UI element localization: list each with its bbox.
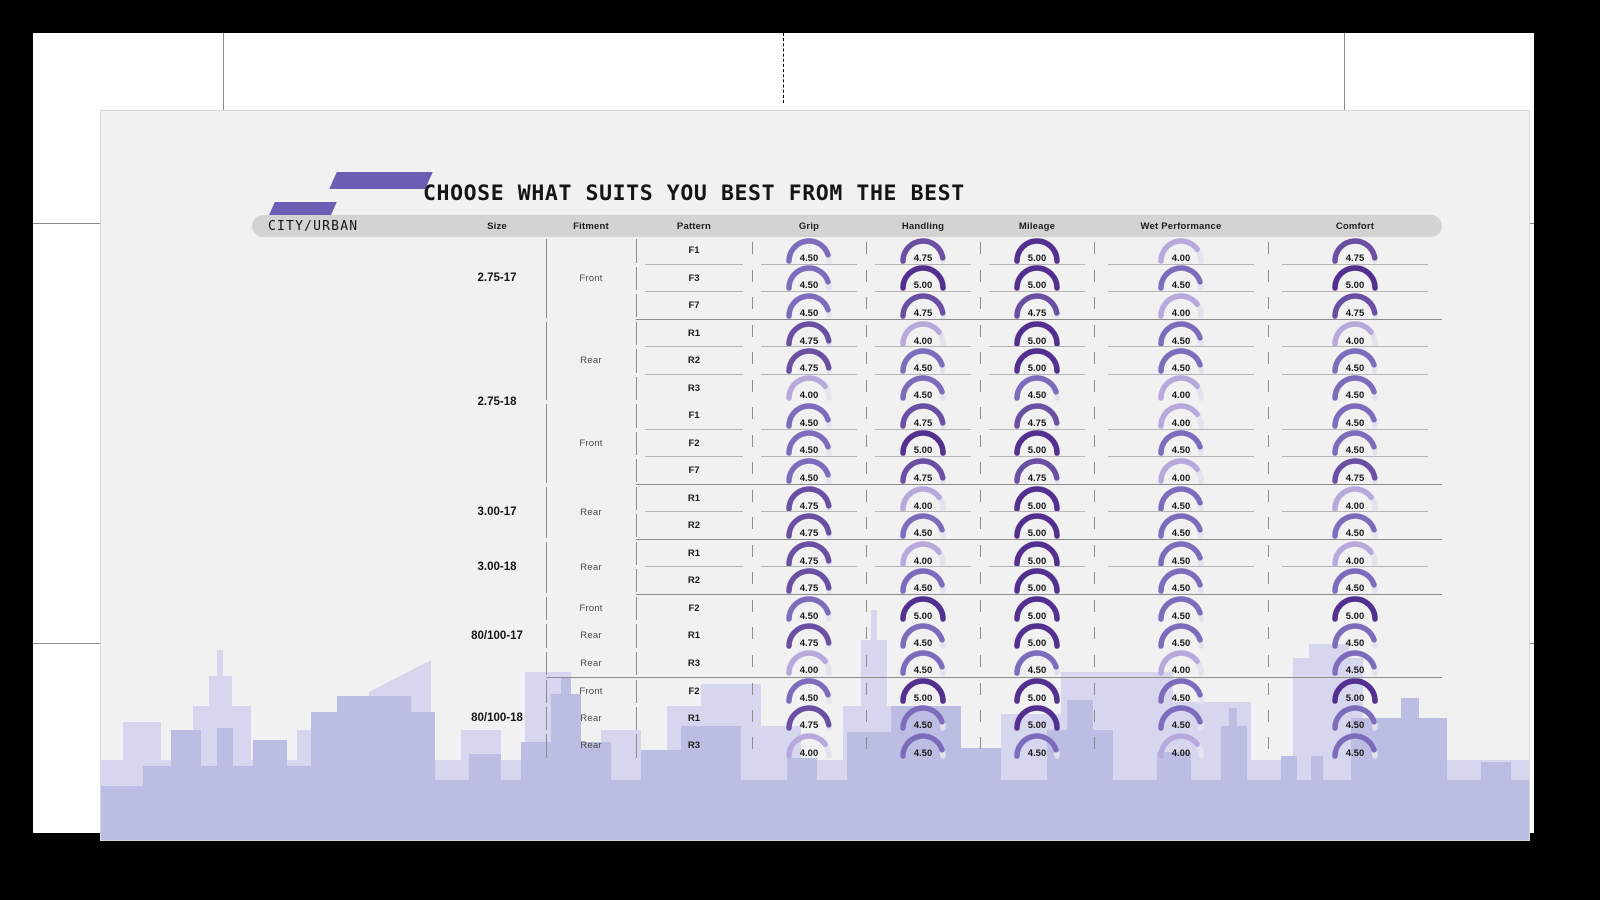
cell-comfort: 4.50: [1268, 347, 1442, 375]
cell-comfort: 4.50: [1268, 650, 1442, 678]
cell-mileage: 5.00: [980, 540, 1094, 568]
gauge-value: 5.00: [895, 280, 951, 291]
cell-wet-performance: 4.50: [1094, 347, 1268, 375]
gauge-value: 4.75: [895, 308, 951, 319]
gauge-value: 4.50: [895, 638, 951, 649]
cell-handling: 4.75: [866, 237, 980, 265]
cell-grip: 4.75: [752, 320, 866, 348]
cell-wet-performance: 4.00: [1094, 237, 1268, 265]
gauge-comfort: 4.50: [1327, 623, 1383, 649]
gauge-value: 5.00: [895, 693, 951, 704]
gauge-mileage: 5.00: [1009, 596, 1065, 622]
gauge-value: 4.50: [895, 720, 951, 731]
gauge-mileage: 5.00: [1009, 541, 1065, 567]
cell-wet-performance: 4.00: [1094, 292, 1268, 320]
cell-grip: 4.00: [752, 732, 866, 760]
gauge-value: 4.50: [1327, 638, 1383, 649]
gauge-value: 4.50: [1153, 445, 1209, 456]
gauge-value: 4.50: [1153, 528, 1209, 539]
gauge-comfort: 4.50: [1327, 705, 1383, 731]
cell-size: 80/100-18: [448, 677, 546, 760]
gauge-value: 4.50: [895, 528, 951, 539]
gauge-value: 4.50: [895, 748, 951, 759]
gauge-value: 4.75: [781, 528, 837, 539]
gauge-value: 4.75: [1327, 308, 1383, 319]
cell-pattern: R2: [636, 347, 752, 375]
gauge-mileage: 5.00: [1009, 705, 1065, 731]
gauge-value: 4.50: [1153, 336, 1209, 347]
cell-mileage: 5.00: [980, 265, 1094, 293]
cell-mileage: 4.75: [980, 457, 1094, 485]
cell-pattern: F3: [636, 265, 752, 293]
gauge-mileage: 5.00: [1009, 265, 1065, 291]
cell-wet-performance: 4.50: [1094, 485, 1268, 513]
cell-grip: 4.75: [752, 622, 866, 650]
gauge-value: 5.00: [1009, 720, 1065, 731]
gauge-value: 4.75: [781, 336, 837, 347]
gauge-mileage: 5.00: [1009, 430, 1065, 456]
row-spacer: [252, 237, 448, 320]
fold-line-top: [783, 33, 784, 103]
tyre-comparison-table: CITY/URBAN Size Fitment Pattern Grip Han…: [252, 215, 1442, 760]
gauge-wet-performance: 4.00: [1153, 238, 1209, 264]
table-row: 3.00-18RearR1 4.75 4.00 5.00 4.50 4.00: [252, 540, 1442, 568]
gauge-comfort: 4.50: [1327, 375, 1383, 401]
gauge-value: 4.00: [1327, 336, 1383, 347]
cell-fitment: Front: [546, 677, 636, 705]
cell-comfort: 5.00: [1268, 677, 1442, 705]
gauge-grip: 4.75: [781, 486, 837, 512]
cell-handling: 4.00: [866, 540, 980, 568]
gauge-grip: 4.50: [781, 678, 837, 704]
brand-badge: CITY/URBAN: [252, 215, 448, 237]
cell-handling: 4.50: [866, 705, 980, 733]
gauge-handling: 4.50: [895, 650, 951, 676]
gauge-grip: 4.50: [781, 265, 837, 291]
cell-fitment: Rear: [546, 622, 636, 650]
gauge-value: 4.50: [781, 693, 837, 704]
cell-mileage: 5.00: [980, 595, 1094, 623]
cell-comfort: 4.00: [1268, 320, 1442, 348]
col-header-size: Size: [448, 215, 546, 237]
gauge-value: 4.75: [895, 253, 951, 264]
cell-comfort: 4.50: [1268, 705, 1442, 733]
gauge-grip: 4.00: [781, 650, 837, 676]
gauge-comfort: 4.00: [1327, 321, 1383, 347]
gauge-value: 4.00: [1327, 501, 1383, 512]
cell-grip: 4.50: [752, 292, 866, 320]
cell-pattern: F2: [636, 430, 752, 458]
row-spacer: [252, 595, 448, 678]
row-spacer: [252, 540, 448, 595]
gauge-mileage: 5.00: [1009, 678, 1065, 704]
cell-grip: 4.50: [752, 430, 866, 458]
gauge-value: 4.00: [1153, 748, 1209, 759]
gauge-mileage: 4.75: [1009, 293, 1065, 319]
gauge-wet-performance: 4.50: [1153, 596, 1209, 622]
gauge-grip: 4.75: [781, 568, 837, 594]
cell-pattern: R1: [636, 485, 752, 513]
cell-pattern: R1: [636, 622, 752, 650]
gauge-handling: 4.50: [895, 375, 951, 401]
gauge-mileage: 5.00: [1009, 348, 1065, 374]
cell-wet-performance: 4.00: [1094, 457, 1268, 485]
page-title-block: CHOOSE WHAT SUITS YOU BEST FROM THE BEST: [271, 167, 965, 219]
gauge-value: 4.75: [895, 473, 951, 484]
gauge-comfort: 4.50: [1327, 733, 1383, 759]
cell-pattern: F2: [636, 677, 752, 705]
gauge-value: 4.00: [1153, 390, 1209, 401]
cell-handling: 5.00: [866, 595, 980, 623]
table-row: 80/100-18FrontF2 4.50 5.00 5.00 4.50 5.0…: [252, 677, 1442, 705]
page-title: CHOOSE WHAT SUITS YOU BEST FROM THE BEST: [423, 181, 965, 206]
gauge-handling: 4.00: [895, 321, 951, 347]
cell-grip: 4.75: [752, 347, 866, 375]
gauge-wet-performance: 4.00: [1153, 375, 1209, 401]
gauge-value: 4.75: [1327, 253, 1383, 264]
cell-wet-performance: 4.00: [1094, 375, 1268, 403]
gauge-handling: 4.75: [895, 403, 951, 429]
cell-handling: 4.75: [866, 402, 980, 430]
gauge-grip: 4.00: [781, 375, 837, 401]
cell-comfort: 4.50: [1268, 622, 1442, 650]
table-row: 2.75-17FrontF1 4.50 4.75 5.00 4.00 4.75: [252, 237, 1442, 265]
gauge-comfort: 4.75: [1327, 458, 1383, 484]
cell-handling: 5.00: [866, 430, 980, 458]
gauge-value: 4.50: [781, 611, 837, 622]
cell-mileage: 5.00: [980, 622, 1094, 650]
cell-pattern: F7: [636, 292, 752, 320]
cell-fitment: Rear: [546, 485, 636, 540]
cell-fitment: Rear: [546, 732, 636, 760]
cell-grip: 4.00: [752, 650, 866, 678]
cell-fitment: Front: [546, 595, 636, 623]
gauge-mileage: 4.75: [1009, 403, 1065, 429]
gauge-value: 4.50: [1153, 556, 1209, 567]
gauge-value: 4.00: [1327, 556, 1383, 567]
gauge-value: 4.00: [1153, 253, 1209, 264]
cell-comfort: 5.00: [1268, 595, 1442, 623]
cell-pattern: R1: [636, 540, 752, 568]
cell-pattern: R1: [636, 705, 752, 733]
gauge-value: 4.50: [1327, 748, 1383, 759]
gauge-handling: 5.00: [895, 678, 951, 704]
gauge-mileage: 4.50: [1009, 650, 1065, 676]
cell-mileage: 4.50: [980, 732, 1094, 760]
gauge-handling: 4.50: [895, 568, 951, 594]
gauge-grip: 4.75: [781, 321, 837, 347]
gauge-value: 4.75: [1009, 473, 1065, 484]
cell-handling: 4.75: [866, 457, 980, 485]
gauge-value: 4.50: [1327, 390, 1383, 401]
cell-wet-performance: 4.50: [1094, 265, 1268, 293]
gauge-value: 4.50: [1153, 280, 1209, 291]
gauge-comfort: 4.50: [1327, 403, 1383, 429]
gauge-grip: 4.75: [781, 513, 837, 539]
table-row: 2.75-18RearR1 4.75 4.00 5.00 4.50 4.00: [252, 320, 1442, 348]
gauge-value: 4.75: [781, 363, 837, 374]
gauge-wet-performance: 4.50: [1153, 430, 1209, 456]
cell-wet-performance: 4.50: [1094, 320, 1268, 348]
gauge-comfort: 4.50: [1327, 568, 1383, 594]
gauge-comfort: 4.50: [1327, 650, 1383, 676]
gauge-value: 4.00: [895, 336, 951, 347]
gauge-value: 4.50: [1327, 528, 1383, 539]
gauge-value: 4.00: [1153, 308, 1209, 319]
gauge-wet-performance: 4.00: [1153, 458, 1209, 484]
cell-fitment: Rear: [546, 320, 636, 403]
gauge-mileage: 5.00: [1009, 238, 1065, 264]
cell-handling: 5.00: [866, 677, 980, 705]
gauge-value: 5.00: [1009, 501, 1065, 512]
gauge-value: 5.00: [1009, 363, 1065, 374]
cell-mileage: 5.00: [980, 705, 1094, 733]
gauge-value: 4.50: [1327, 363, 1383, 374]
cell-comfort: 4.50: [1268, 402, 1442, 430]
gauge-value: 4.50: [781, 253, 837, 264]
gauge-comfort: 4.00: [1327, 541, 1383, 567]
gauge-wet-performance: 4.50: [1153, 678, 1209, 704]
cell-mileage: 5.00: [980, 485, 1094, 513]
gauge-value: 5.00: [1009, 556, 1065, 567]
row-spacer: [252, 677, 448, 760]
gauge-value: 4.75: [781, 638, 837, 649]
table-head: CITY/URBAN Size Fitment Pattern Grip Han…: [252, 215, 1442, 237]
cell-comfort: 4.50: [1268, 732, 1442, 760]
gauge-value: 5.00: [1009, 528, 1065, 539]
gauge-wet-performance: 4.00: [1153, 403, 1209, 429]
gauge-value: 5.00: [1009, 336, 1065, 347]
gauge-grip: 4.75: [781, 623, 837, 649]
cell-comfort: 4.00: [1268, 485, 1442, 513]
cell-mileage: 5.00: [980, 347, 1094, 375]
cell-grip: 4.75: [752, 540, 866, 568]
gauge-value: 4.50: [781, 308, 837, 319]
gauge-wet-performance: 4.50: [1153, 321, 1209, 347]
artboard: CHOOSE WHAT SUITS YOU BEST FROM THE BEST…: [100, 110, 1530, 841]
cell-comfort: 4.50: [1268, 512, 1442, 540]
cell-grip: 4.50: [752, 237, 866, 265]
cell-handling: 4.50: [866, 622, 980, 650]
cell-size: 3.00-18: [448, 540, 546, 595]
gauge-wet-performance: 4.50: [1153, 348, 1209, 374]
gauge-handling: 4.00: [895, 486, 951, 512]
gauge-value: 4.50: [895, 583, 951, 594]
gauge-mileage: 4.75: [1009, 458, 1065, 484]
cell-pattern: R2: [636, 512, 752, 540]
gauge-handling: 5.00: [895, 596, 951, 622]
cell-handling: 4.00: [866, 320, 980, 348]
gauge-grip: 4.50: [781, 430, 837, 456]
print-sheet: CHOOSE WHAT SUITS YOU BEST FROM THE BEST…: [33, 33, 1534, 833]
gauge-comfort: 4.75: [1327, 293, 1383, 319]
cell-mileage: 5.00: [980, 567, 1094, 595]
cell-grip: 4.50: [752, 265, 866, 293]
gauge-value: 4.75: [781, 583, 837, 594]
cell-wet-performance: 4.50: [1094, 567, 1268, 595]
gauge-value: 4.50: [895, 390, 951, 401]
col-header-wet-performance: Wet Performance: [1094, 215, 1268, 237]
gauge-comfort: 5.00: [1327, 265, 1383, 291]
cell-handling: 4.75: [866, 292, 980, 320]
cell-wet-performance: 4.50: [1094, 540, 1268, 568]
gauge-grip: 4.75: [781, 348, 837, 374]
cell-mileage: 5.00: [980, 512, 1094, 540]
gauge-mileage: 4.50: [1009, 733, 1065, 759]
gauge-value: 4.50: [895, 665, 951, 676]
gauge-mileage: 4.50: [1009, 375, 1065, 401]
cell-pattern: R1: [636, 320, 752, 348]
cell-grip: 4.00: [752, 375, 866, 403]
gauge-value: 4.50: [1153, 583, 1209, 594]
gauge-value: 5.00: [895, 445, 951, 456]
cell-grip: 4.75: [752, 705, 866, 733]
gauge-wet-performance: 4.50: [1153, 265, 1209, 291]
table-row: 3.00-17RearR1 4.75 4.00 5.00 4.50 4.00: [252, 485, 1442, 513]
gauge-mileage: 5.00: [1009, 568, 1065, 594]
cell-wet-performance: 4.50: [1094, 595, 1268, 623]
gauge-grip: 4.50: [781, 403, 837, 429]
gauge-comfort: 4.50: [1327, 513, 1383, 539]
gauge-value: 4.50: [1153, 501, 1209, 512]
gauge-value: 4.50: [1153, 720, 1209, 731]
cell-fitment: Rear: [546, 650, 636, 678]
gauge-grip: 4.50: [781, 293, 837, 319]
table-header-row: CITY/URBAN Size Fitment Pattern Grip Han…: [252, 215, 1442, 237]
cell-mileage: 5.00: [980, 237, 1094, 265]
gauge-mileage: 5.00: [1009, 623, 1065, 649]
cell-fitment: Rear: [546, 540, 636, 595]
gauge-value: 5.00: [1009, 253, 1065, 264]
gauge-value: 4.50: [781, 473, 837, 484]
gauge-value: 5.00: [1009, 638, 1065, 649]
gauge-wet-performance: 4.00: [1153, 293, 1209, 319]
gauge-value: 4.00: [1153, 665, 1209, 676]
cell-handling: 4.50: [866, 732, 980, 760]
gauge-value: 4.50: [1153, 363, 1209, 374]
cell-pattern: F1: [636, 237, 752, 265]
cell-comfort: 4.50: [1268, 375, 1442, 403]
gauge-wet-performance: 4.50: [1153, 568, 1209, 594]
gauge-mileage: 5.00: [1009, 321, 1065, 347]
gauge-wet-performance: 4.50: [1153, 513, 1209, 539]
gauge-value: 4.50: [1153, 638, 1209, 649]
accent-slashes-icon: [271, 167, 423, 219]
row-spacer: [252, 320, 448, 485]
gauge-wet-performance: 4.00: [1153, 733, 1209, 759]
cell-pattern: R3: [636, 375, 752, 403]
cell-wet-performance: 4.50: [1094, 677, 1268, 705]
cell-handling: 4.50: [866, 650, 980, 678]
gauge-value: 5.00: [1009, 583, 1065, 594]
gauge-handling: 4.75: [895, 238, 951, 264]
cell-comfort: 4.50: [1268, 567, 1442, 595]
gauge-wet-performance: 4.00: [1153, 650, 1209, 676]
gauge-handling: 4.00: [895, 541, 951, 567]
cell-grip: 4.75: [752, 512, 866, 540]
row-spacer: [252, 485, 448, 540]
cell-comfort: 5.00: [1268, 265, 1442, 293]
gauge-value: 4.50: [1153, 693, 1209, 704]
gauge-value: 4.50: [1327, 665, 1383, 676]
gauge-value: 4.75: [1009, 418, 1065, 429]
col-header-pattern: Pattern: [636, 215, 752, 237]
cell-handling: 5.00: [866, 265, 980, 293]
gauge-value: 4.00: [1153, 418, 1209, 429]
cell-size: 2.75-17: [448, 237, 546, 320]
cell-grip: 4.50: [752, 402, 866, 430]
gauge-value: 4.50: [1009, 390, 1065, 401]
cell-grip: 4.50: [752, 457, 866, 485]
cell-fitment: Front: [546, 402, 636, 485]
gauge-comfort: 5.00: [1327, 596, 1383, 622]
gauge-comfort: 5.00: [1327, 678, 1383, 704]
gauge-value: 5.00: [1009, 693, 1065, 704]
cell-size: 2.75-18: [448, 320, 546, 485]
gauge-value: 4.50: [781, 280, 837, 291]
cell-mileage: 4.75: [980, 402, 1094, 430]
table-body: 2.75-17FrontF1 4.50 4.75 5.00 4.00 4.75 …: [252, 237, 1442, 760]
gauge-value: 5.00: [1009, 445, 1065, 456]
gauge-grip: 4.75: [781, 541, 837, 567]
cell-comfort: 4.75: [1268, 457, 1442, 485]
cell-mileage: 5.00: [980, 320, 1094, 348]
col-header-grip: Grip: [752, 215, 866, 237]
cell-grip: 4.75: [752, 567, 866, 595]
accent-slash-top: [329, 172, 433, 189]
gauge-value: 4.50: [1327, 583, 1383, 594]
gauge-value: 5.00: [1009, 280, 1065, 291]
gauge-value: 4.75: [781, 720, 837, 731]
gauge-handling: 5.00: [895, 265, 951, 291]
cell-grip: 4.50: [752, 595, 866, 623]
gauge-comfort: 4.75: [1327, 238, 1383, 264]
gauge-wet-performance: 4.50: [1153, 486, 1209, 512]
gauge-grip: 4.50: [781, 596, 837, 622]
gauge-handling: 5.00: [895, 430, 951, 456]
cell-pattern: F7: [636, 457, 752, 485]
gauge-mileage: 5.00: [1009, 486, 1065, 512]
gauge-value: 4.00: [1153, 473, 1209, 484]
table-row: 80/100-17FrontF2 4.50 5.00 5.00 4.50 5.0…: [252, 595, 1442, 623]
gauge-grip: 4.00: [781, 733, 837, 759]
cell-fitment: Rear: [546, 705, 636, 733]
cell-mileage: 4.50: [980, 650, 1094, 678]
cell-handling: 4.50: [866, 512, 980, 540]
gauge-grip: 4.50: [781, 238, 837, 264]
gauge-grip: 4.50: [781, 458, 837, 484]
cell-handling: 4.50: [866, 375, 980, 403]
gauge-mileage: 5.00: [1009, 513, 1065, 539]
gauge-value: 4.50: [1009, 748, 1065, 759]
gauge-value: 5.00: [1327, 693, 1383, 704]
gauge-value: 4.75: [1009, 308, 1065, 319]
gauge-value: 4.50: [1327, 418, 1383, 429]
cell-wet-performance: 4.50: [1094, 512, 1268, 540]
gauge-value: 4.75: [1327, 473, 1383, 484]
cell-wet-performance: 4.00: [1094, 732, 1268, 760]
cell-wet-performance: 4.50: [1094, 622, 1268, 650]
gauge-value: 4.50: [895, 363, 951, 374]
cell-pattern: R2: [636, 567, 752, 595]
gauge-value: 4.00: [895, 556, 951, 567]
gauge-comfort: 4.50: [1327, 430, 1383, 456]
cell-pattern: R3: [636, 732, 752, 760]
gauge-wet-performance: 4.50: [1153, 705, 1209, 731]
cell-mileage: 4.50: [980, 375, 1094, 403]
gauge-value: 5.00: [1327, 280, 1383, 291]
col-header-handling: Handling: [866, 215, 980, 237]
